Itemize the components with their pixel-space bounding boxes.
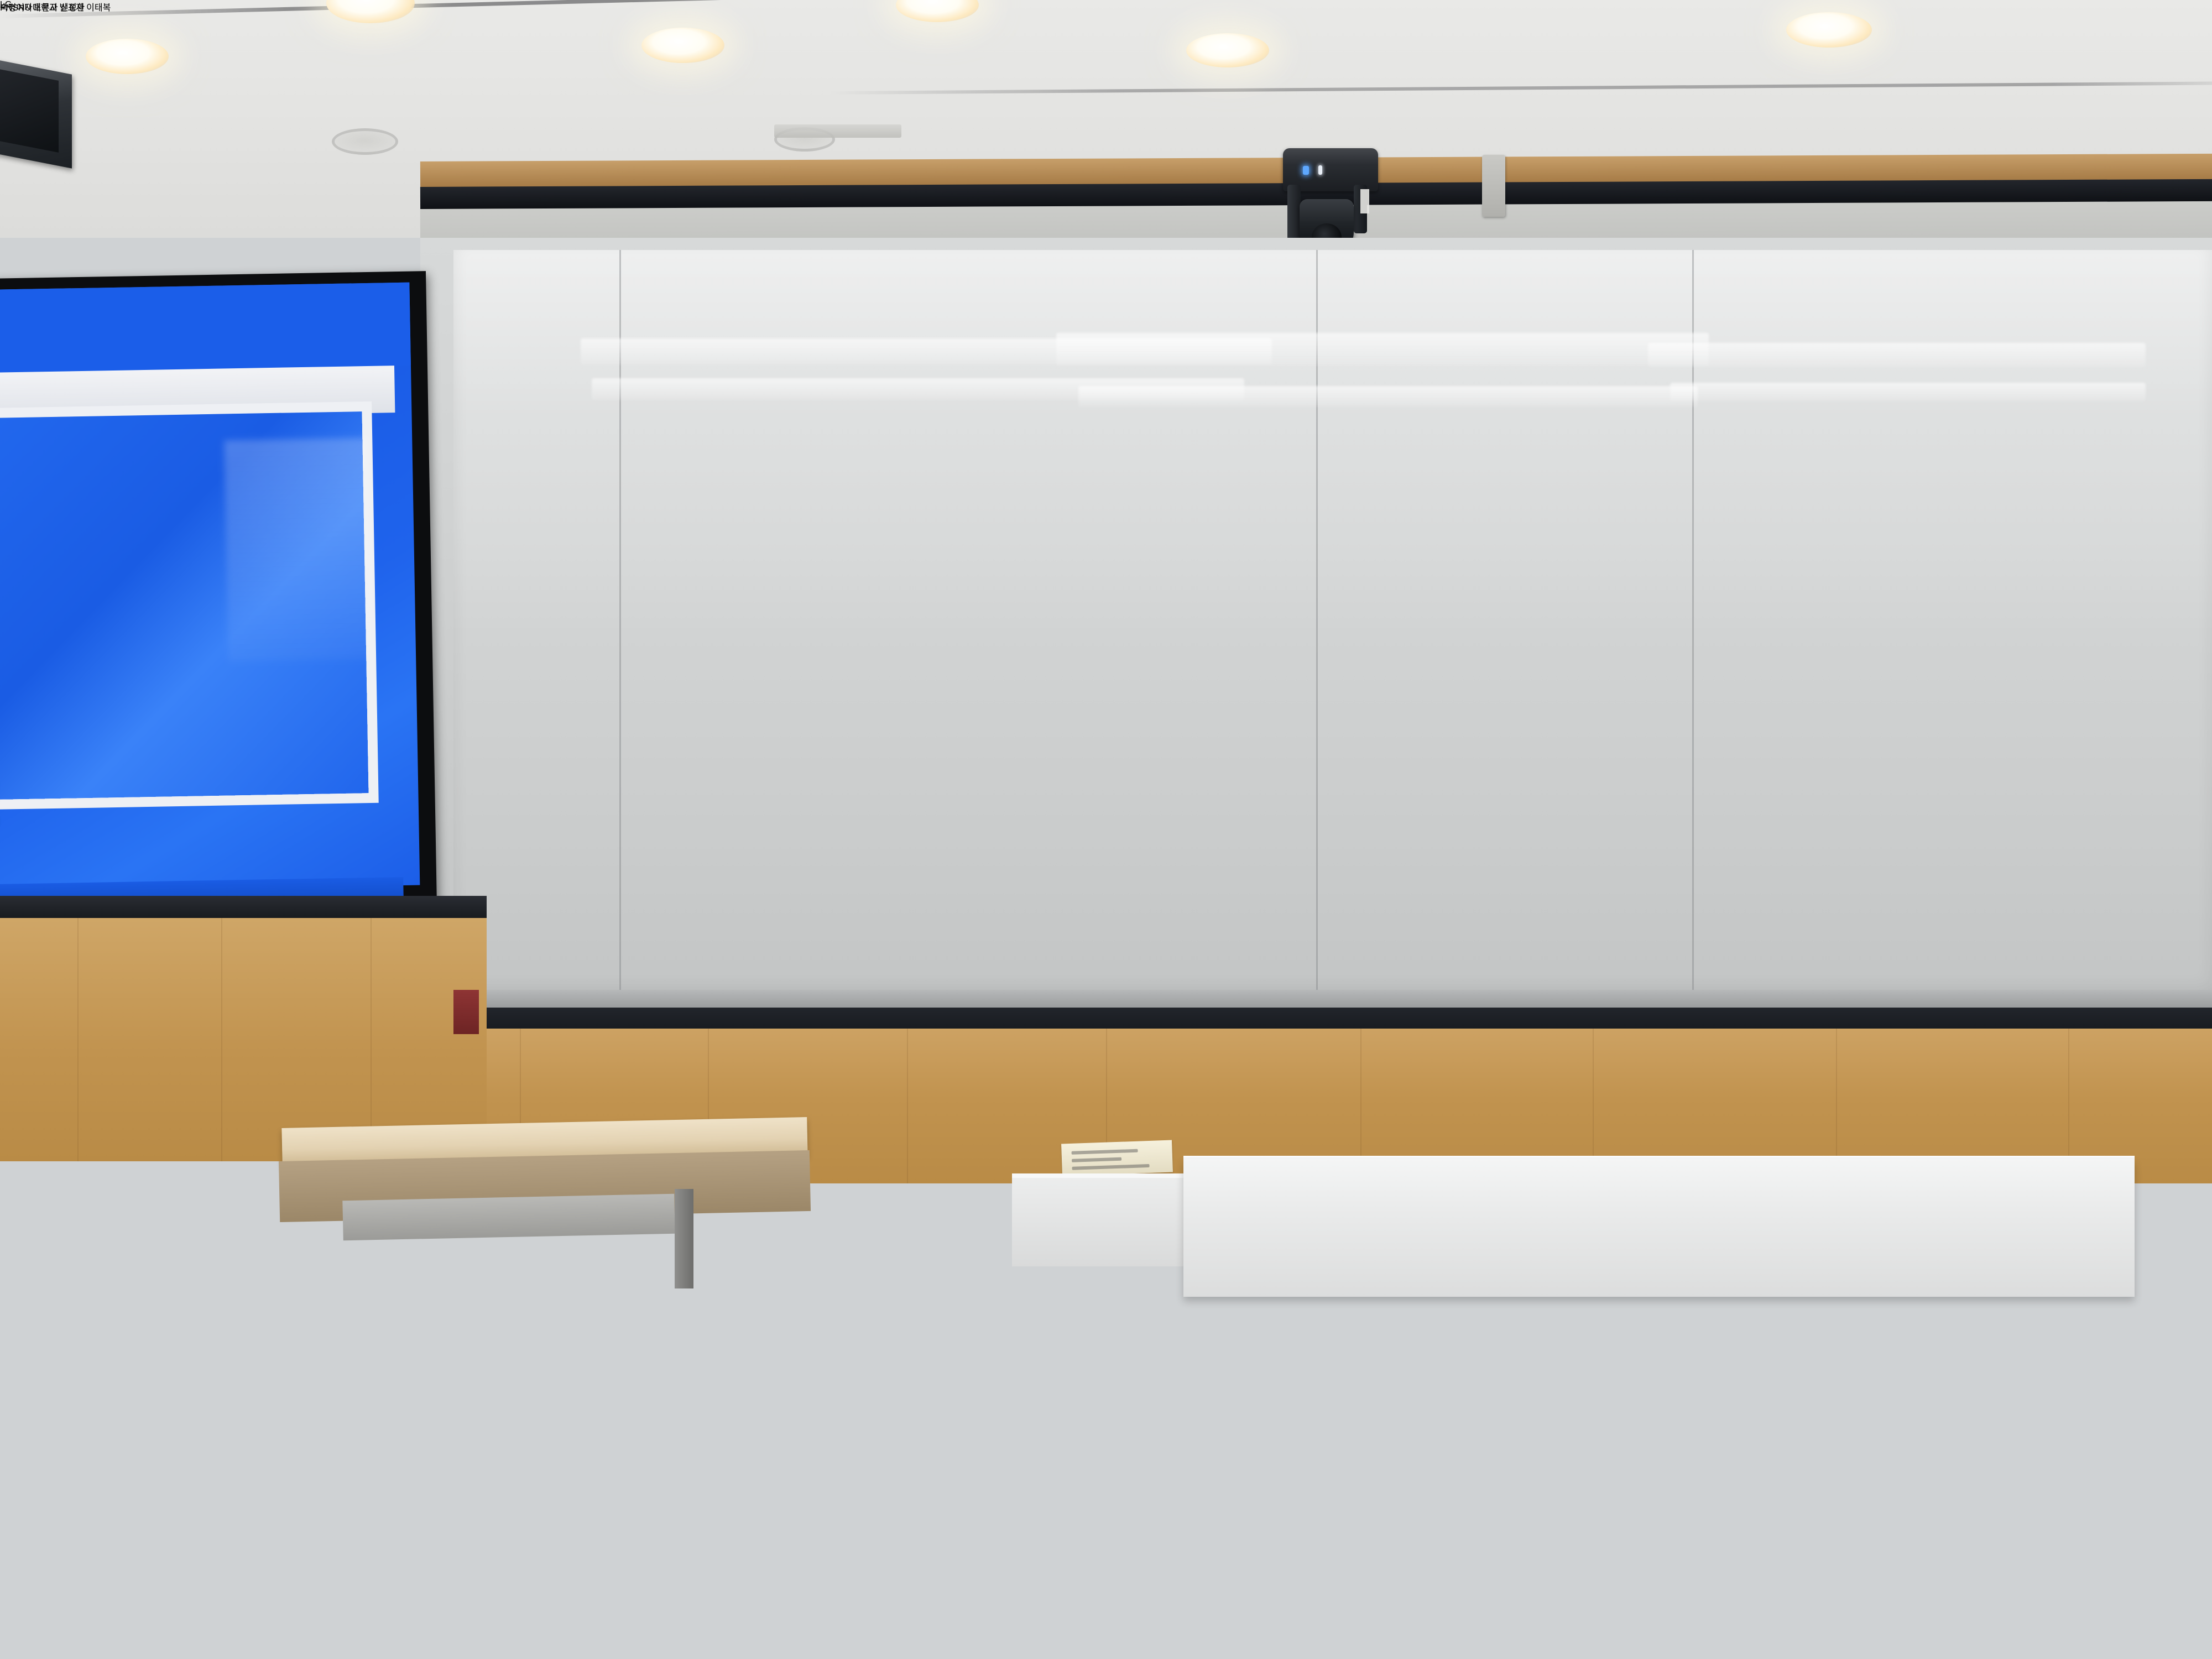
seminar-room-photo: 다! ! — [0, 0, 2212, 1659]
downlight-icon — [1786, 12, 1872, 48]
ceiling-vent — [774, 124, 901, 138]
ceiling-projector-box — [0, 58, 72, 168]
downlight-icon — [1186, 33, 1269, 67]
side-table — [1012, 1178, 1189, 1266]
slide-top-band — [0, 283, 411, 373]
nameplate-name: 이태복 — [86, 3, 111, 13]
whiteboard — [453, 250, 2212, 997]
projection-screen: 다! ! — [0, 271, 437, 915]
papers — [1061, 1140, 1173, 1176]
camera-label-sticker — [1360, 189, 1369, 213]
nameplate-presenter: 숙명여자대학교 발표자 이태복 — [0, 0, 111, 13]
screen-glare — [224, 438, 372, 661]
downlight-off-icon — [332, 128, 398, 155]
camera-status-light — [1318, 165, 1322, 175]
nameplate-role: 발표자 — [60, 3, 84, 13]
downlight-icon — [86, 39, 169, 74]
presenter-podium — [1183, 1159, 2135, 1297]
camera-led-indicator — [1303, 166, 1309, 175]
camera-yoke-left — [1287, 185, 1301, 240]
whiteboard-tray — [453, 990, 2212, 1009]
desk-modesty-panel — [342, 1194, 675, 1241]
desk-leg — [675, 1189, 693, 1288]
red-binder — [453, 990, 479, 1034]
nameplate-org-text: 숙명여자대학교 — [0, 3, 57, 13]
downlight-icon — [641, 28, 724, 63]
ceiling-mount-bracket — [1482, 155, 1505, 217]
